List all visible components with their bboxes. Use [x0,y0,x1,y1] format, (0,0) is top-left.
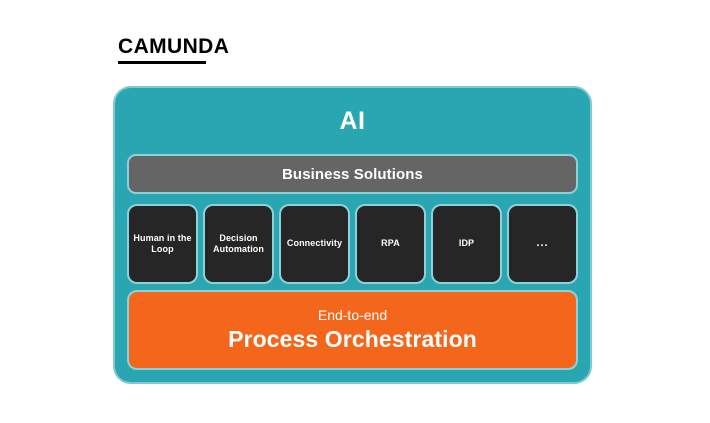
process-orchestration-layer: End-to-end Process Orchestration [127,290,578,370]
ai-platform-stack-diagram: AI Business Solutions Human in the Loop … [113,86,592,384]
process-orchestration-title: Process Orchestration [228,327,477,352]
capability-label: Human in the Loop [133,233,192,256]
capabilities-row: Human in the Loop Decision Automation Co… [127,204,578,284]
business-solutions-layer: Business Solutions [127,154,578,194]
capability-label: RPA [381,238,400,249]
capability-card-rpa: RPA [355,204,426,284]
capability-card-more: ... [507,204,578,284]
capability-card-idp: IDP [431,204,502,284]
capability-label: Connectivity [287,238,342,249]
capability-label: Decision Automation [209,233,268,256]
process-orchestration-kicker: End-to-end [318,307,387,324]
capability-card-decision-automation: Decision Automation [203,204,274,284]
logo-wordmark: CAMUNDA [118,36,229,57]
capability-label: ... [536,237,548,251]
business-solutions-label: Business Solutions [282,167,423,182]
capability-label: IDP [459,238,474,249]
capability-card-human-in-the-loop: Human in the Loop [127,204,198,284]
logo-underline [118,61,206,64]
capability-card-connectivity: Connectivity [279,204,350,284]
ai-layer-band: AI [115,88,590,154]
ai-layer-label: AI [340,109,366,134]
camunda-logo: CAMUNDA [118,36,229,64]
